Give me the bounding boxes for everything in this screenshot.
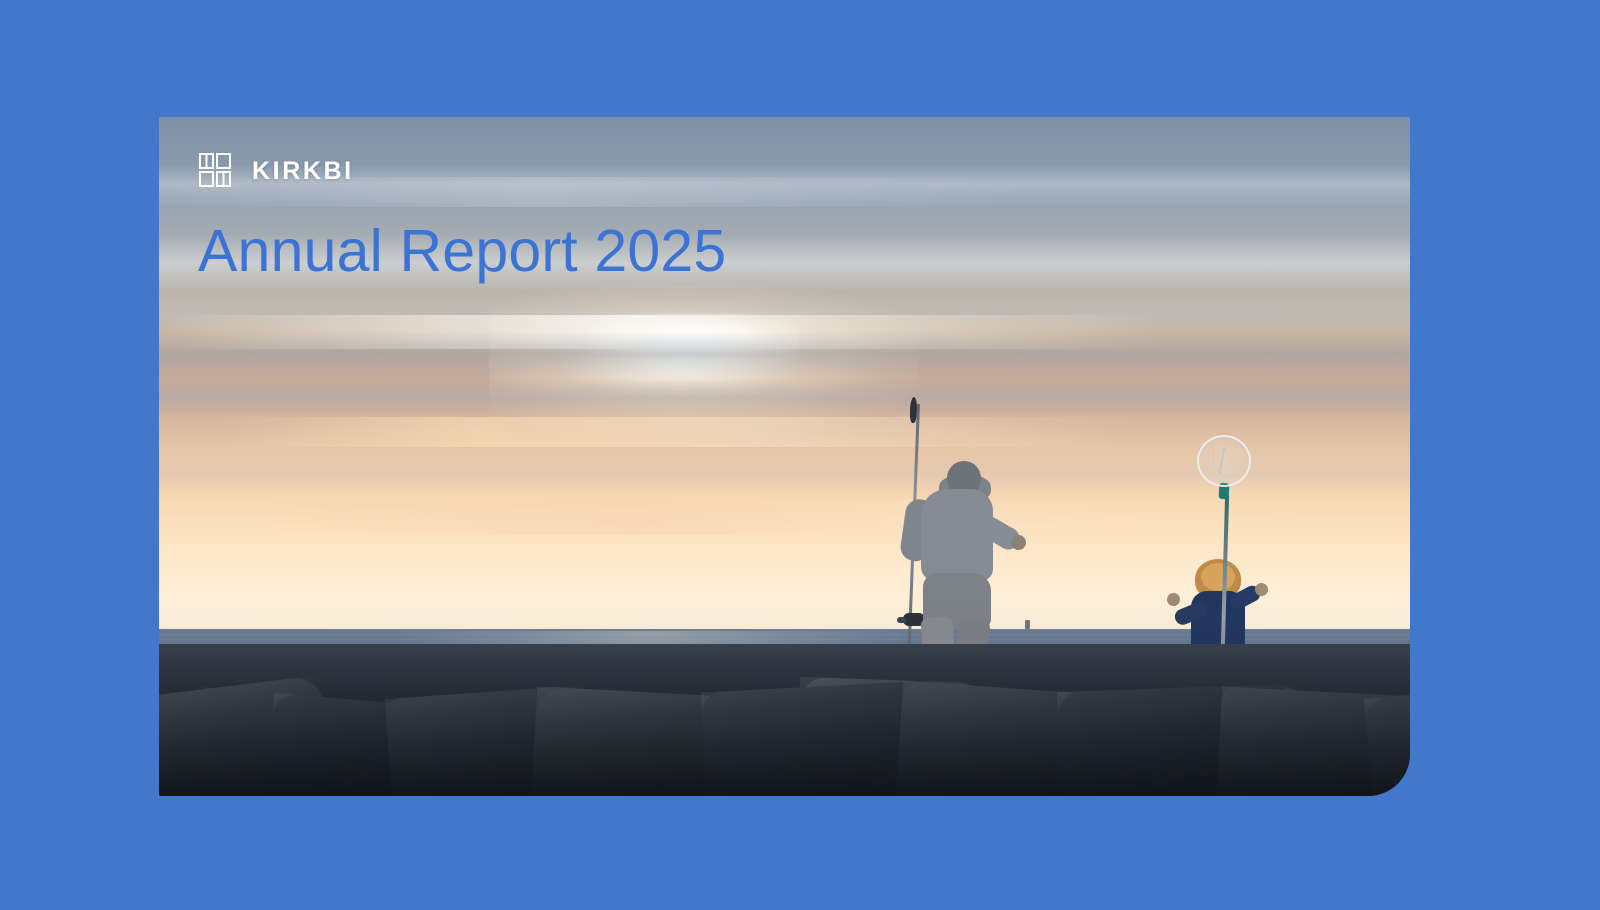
cover-panel: KIRKBI Annual Report 2025: [159, 117, 1410, 796]
fishing-net-mesh: [1213, 449, 1239, 477]
brand-lockup: KIRKBI: [199, 153, 354, 189]
child-left-hand: [1167, 593, 1180, 606]
fishing-net-hoop: [1197, 435, 1251, 487]
kirkbi-grid-logo: [199, 153, 233, 189]
adult-hand: [1011, 535, 1026, 550]
cover-page: KIRKBI Annual Report 2025: [0, 0, 1600, 910]
brand-wordmark: KIRKBI: [252, 159, 354, 184]
rock: [1364, 682, 1410, 796]
breakwater-rocks: [159, 644, 1410, 796]
distant-boat: [1025, 620, 1030, 629]
cover-title: Annual Report 2025: [198, 221, 726, 283]
